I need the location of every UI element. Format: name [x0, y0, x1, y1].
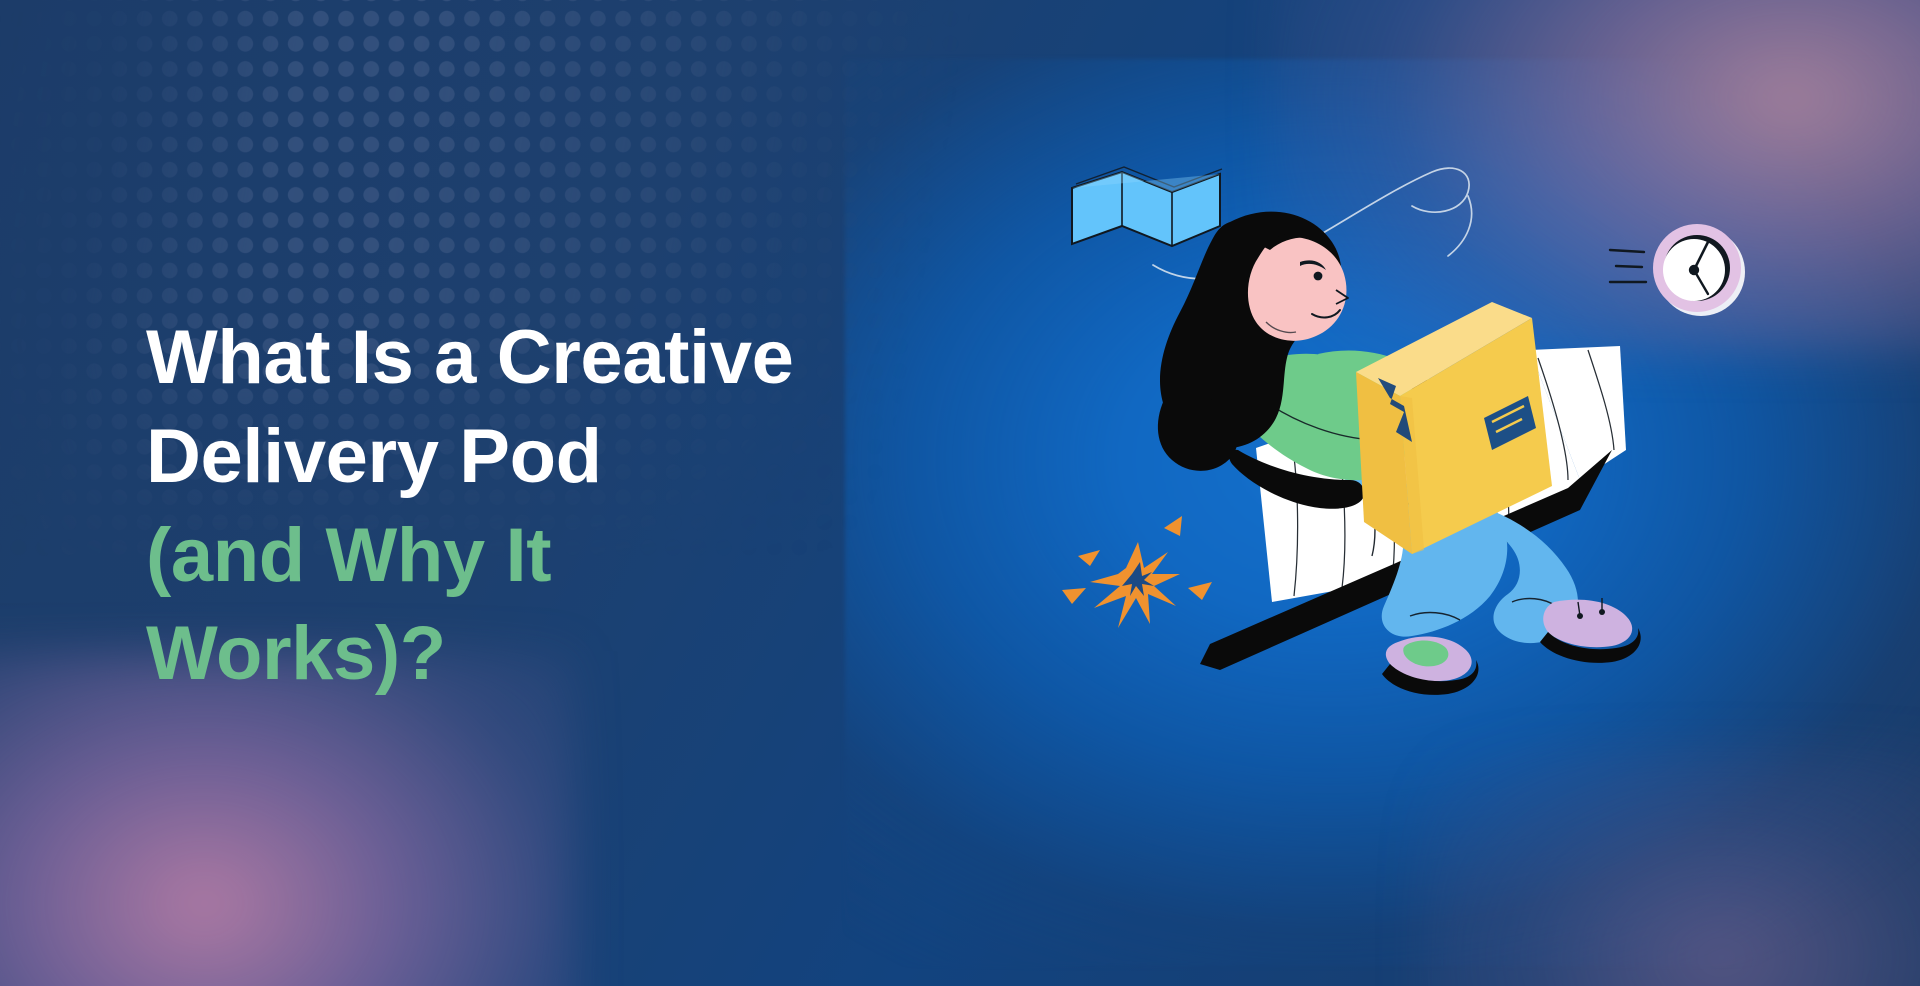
headline-line-4: Works)? [146, 605, 1006, 704]
headline-line-2: Delivery Pod [146, 408, 1006, 507]
hero-illustration [1060, 150, 1780, 710]
clock-icon [1653, 224, 1745, 316]
folded-map-icon [1072, 167, 1222, 246]
background-glow-bottom-right [1421, 749, 1920, 986]
spark-burst-icon [1062, 516, 1212, 628]
headline-line-3: (and Why It [146, 507, 1006, 606]
hero-banner: What Is a Creative Delivery Pod (and Why… [0, 0, 1920, 986]
headline-line-1: What Is a Creative [146, 309, 1006, 408]
clock-motion-lines [1610, 250, 1646, 282]
page-title: What Is a Creative Delivery Pod (and Why… [146, 309, 1006, 704]
